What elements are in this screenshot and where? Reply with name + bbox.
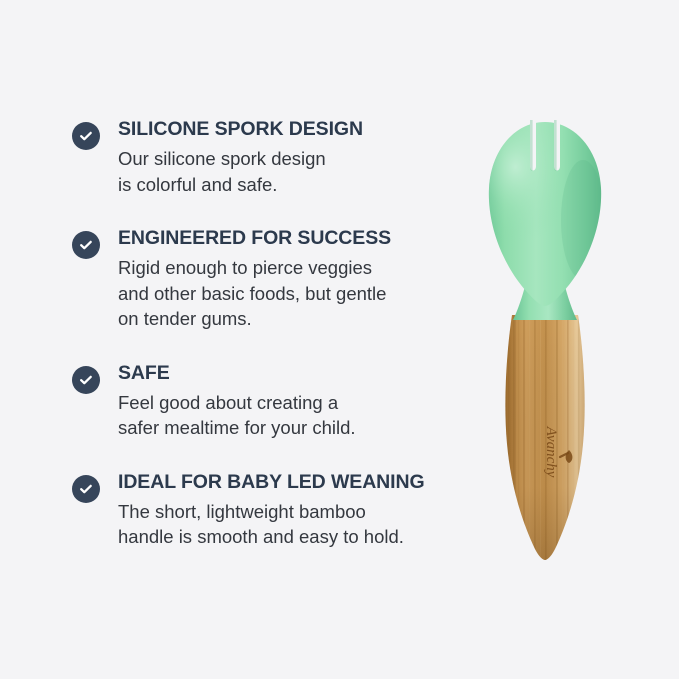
feature-description: Rigid enough to pierce veggies and other… <box>118 255 472 332</box>
feature-description-line: handle is smooth and easy to hold. <box>118 524 472 550</box>
feature-description: Our silicone spork design is colorful an… <box>118 146 472 197</box>
feature-title: SAFE <box>118 362 472 385</box>
feature-description-line: on tender gums. <box>118 306 472 332</box>
check-circle-icon <box>72 231 100 259</box>
feature-description-line: The short, lightweight bamboo <box>118 499 472 525</box>
check-circle-icon <box>72 475 100 503</box>
check-circle-icon <box>72 122 100 150</box>
feature-description: The short, lightweight bamboo handle is … <box>118 499 472 550</box>
feature-description-line: is colorful and safe. <box>118 172 472 198</box>
feature-description-line: Our silicone spork design <box>118 146 472 172</box>
feature-description-line: and other basic foods, but gentle <box>118 281 472 307</box>
feature-description-line: Rigid enough to pierce veggies <box>118 255 472 281</box>
product-image-spork: Avanchy <box>455 100 635 580</box>
bamboo-handle: Avanchy <box>505 310 584 565</box>
brand-engraving-text: Avanchy <box>543 426 559 478</box>
feature-description-line: safer mealtime for your child. <box>118 415 472 441</box>
feature-description-line: Feel good about creating a <box>118 390 472 416</box>
feature-title: ENGINEERED FOR SUCCESS <box>118 227 472 250</box>
feature-title: IDEAL FOR BABY LED WEANING <box>118 471 472 494</box>
feature-item-safe: SAFE Feel good about creating a safer me… <box>72 362 472 441</box>
feature-description: Feel good about creating a safer mealtim… <box>118 390 472 441</box>
feature-item-ideal-for-baby-led-weaning: IDEAL FOR BABY LED WEANING The short, li… <box>72 471 472 550</box>
feature-title: SILICONE SPORK DESIGN <box>118 118 472 141</box>
feature-item-silicone-spork-design: SILICONE SPORK DESIGN Our silicone spork… <box>72 118 472 197</box>
check-circle-icon <box>72 366 100 394</box>
silicone-spork-head <box>479 120 605 320</box>
feature-list: SILICONE SPORK DESIGN Our silicone spork… <box>72 118 472 550</box>
product-infographic: SILICONE SPORK DESIGN Our silicone spork… <box>0 0 679 679</box>
feature-item-engineered-for-success: ENGINEERED FOR SUCCESS Rigid enough to p… <box>72 227 472 332</box>
